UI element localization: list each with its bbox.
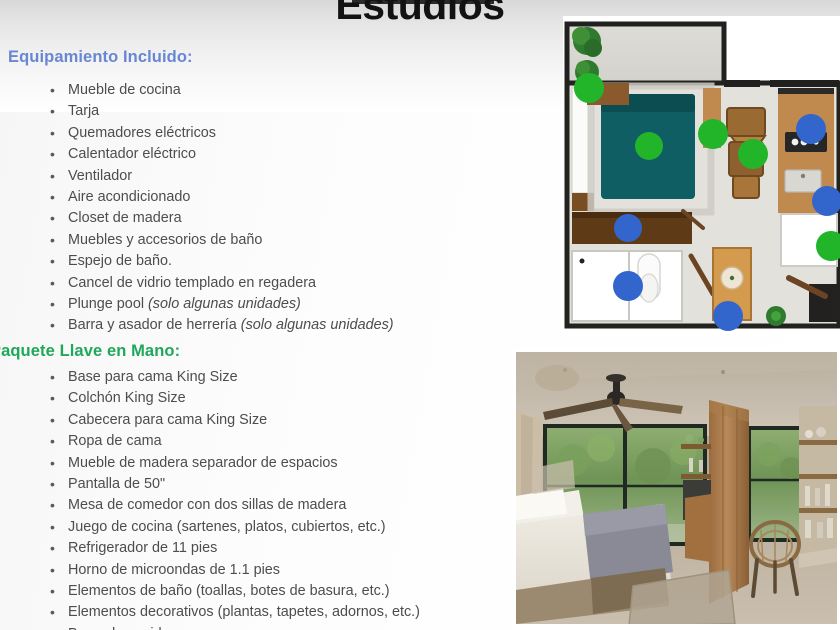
- list-item-label: Elementos de baño (toallas, botes de bas…: [68, 583, 390, 599]
- list-llave-en-mano: •Base para cama King Size•Colchón King S…: [0, 367, 420, 630]
- studio-interior-photo: [513, 348, 840, 630]
- list-equipamiento: •Mueble de cocina•Tarja•Quemadores eléct…: [0, 80, 394, 337]
- list-item-label: Pantalla de 50": [68, 476, 165, 492]
- list-item-label: Plunge pool: [68, 296, 148, 312]
- list-item-label: Colchón King Size: [68, 390, 186, 406]
- bullet-point-icon: •: [50, 538, 58, 559]
- list-item-label: Barra de sonido: [68, 626, 170, 630]
- list-item-label: Base para cama King Size: [68, 369, 238, 385]
- list-item: •Quemadores eléctricos: [0, 123, 394, 144]
- list-item: •Plunge pool (solo algunas unidades): [0, 294, 394, 315]
- list-item: •Calentador eléctrico: [0, 144, 394, 165]
- bullet-point-icon: •: [50, 187, 58, 208]
- list-item-label: Cancel de vidrio templado en regadera: [68, 275, 316, 291]
- bullet-point-icon: •: [50, 101, 58, 122]
- bullet-point-icon: •: [50, 273, 58, 294]
- list-item: •Refrigerador de 11 pies: [0, 538, 420, 559]
- bullet-point-icon: •: [50, 624, 58, 630]
- list-item-label: Espejo de baño.: [68, 253, 172, 269]
- list-item: •Muebles y accesorios de baño: [0, 230, 394, 251]
- bullet-point-icon: •: [50, 517, 58, 538]
- list-item: •Horno de microondas de 1.1 pies: [0, 560, 420, 581]
- bullet-point-icon: •: [50, 144, 58, 165]
- list-item: •Ventilador: [0, 166, 394, 187]
- list-item-label: Ropa de cama: [68, 433, 162, 449]
- slide-canvas: Estudios Equipamiento Incluido: •Mueble …: [0, 0, 840, 630]
- list-item-label: Muebles y accesorios de baño: [68, 232, 262, 248]
- list-item-label: Refrigerador de 11 pies: [68, 540, 217, 556]
- list-item-label: Closet de madera: [68, 210, 182, 226]
- bullet-point-icon: •: [50, 602, 58, 623]
- page-title: Estudios: [290, 0, 550, 29]
- list-item: •Cabecera para cama King Size: [0, 410, 420, 431]
- list-item-label: Mueble de cocina: [68, 82, 181, 98]
- list-item: •Barra y asador de herrería (solo alguna…: [0, 315, 394, 336]
- list-item-label: Calentador eléctrico: [68, 146, 196, 162]
- list-item: •Mueble de cocina: [0, 80, 394, 101]
- list-item-label: Horno de microondas de 1.1 pies: [68, 562, 280, 578]
- list-item: •Mesa de comedor con dos sillas de mader…: [0, 495, 420, 516]
- section-heading-equipamiento: Equipamiento Incluido:: [8, 48, 193, 67]
- list-item: •Pantalla de 50": [0, 474, 420, 495]
- bullet-point-icon: •: [50, 560, 58, 581]
- list-item: •Aire acondicionado: [0, 187, 394, 208]
- list-item-note: (solo algunas unidades): [148, 296, 301, 312]
- list-item-label: Cabecera para cama King Size: [68, 412, 267, 428]
- list-item-label: Barra y asador de herrería: [68, 317, 241, 333]
- list-item-label: Ventilador: [68, 168, 132, 184]
- bullet-point-icon: •: [50, 453, 58, 474]
- bullet-point-icon: •: [50, 410, 58, 431]
- list-item-label: Aire acondicionado: [68, 189, 190, 205]
- list-item: •Tarja: [0, 101, 394, 122]
- bullet-point-icon: •: [50, 581, 58, 602]
- bullet-point-icon: •: [50, 367, 58, 388]
- list-item: •Espejo de baño.: [0, 251, 394, 272]
- bullet-point-icon: •: [50, 123, 58, 144]
- list-item-label: Mueble de madera separador de espacios: [68, 455, 338, 471]
- bullet-point-icon: •: [50, 315, 58, 336]
- list-item: •Barra de sonido: [0, 624, 420, 630]
- list-item: •Ropa de cama: [0, 431, 420, 452]
- bullet-point-icon: •: [50, 208, 58, 229]
- list-item: •Elementos decorativos (plantas, tapetes…: [0, 602, 420, 623]
- bullet-point-icon: •: [50, 294, 58, 315]
- list-item: •Base para cama King Size: [0, 367, 420, 388]
- list-item: •Closet de madera: [0, 208, 394, 229]
- list-item-label: Elementos decorativos (plantas, tapetes,…: [68, 604, 420, 620]
- list-item: •Cancel de vidrio templado en regadera: [0, 273, 394, 294]
- bullet-point-icon: •: [50, 495, 58, 516]
- bullet-point-icon: •: [50, 388, 58, 409]
- bullet-point-icon: •: [50, 166, 58, 187]
- list-item: •Juego de cocina (sartenes, platos, cubi…: [0, 517, 420, 538]
- bullet-point-icon: •: [50, 431, 58, 452]
- list-item: •Mueble de madera separador de espacios: [0, 453, 420, 474]
- list-item-label: Quemadores eléctricos: [68, 125, 216, 141]
- list-item-label: Juego de cocina (sartenes, platos, cubie…: [68, 519, 386, 535]
- list-item-note: (solo algunas unidades): [241, 317, 394, 333]
- list-item-label: Tarja: [68, 103, 99, 119]
- bullet-point-icon: •: [50, 230, 58, 251]
- list-item: •Elementos de baño (toallas, botes de ba…: [0, 581, 420, 602]
- bullet-point-icon: •: [50, 80, 58, 101]
- bullet-point-icon: •: [50, 474, 58, 495]
- bullet-point-icon: •: [50, 251, 58, 272]
- list-item: •Colchón King Size: [0, 388, 420, 409]
- list-item-label: Mesa de comedor con dos sillas de madera: [68, 497, 346, 513]
- studio-floor-plan-image: [563, 16, 840, 336]
- section-heading-llave-en-mano: Paquete Llave en Mano:: [0, 342, 180, 361]
